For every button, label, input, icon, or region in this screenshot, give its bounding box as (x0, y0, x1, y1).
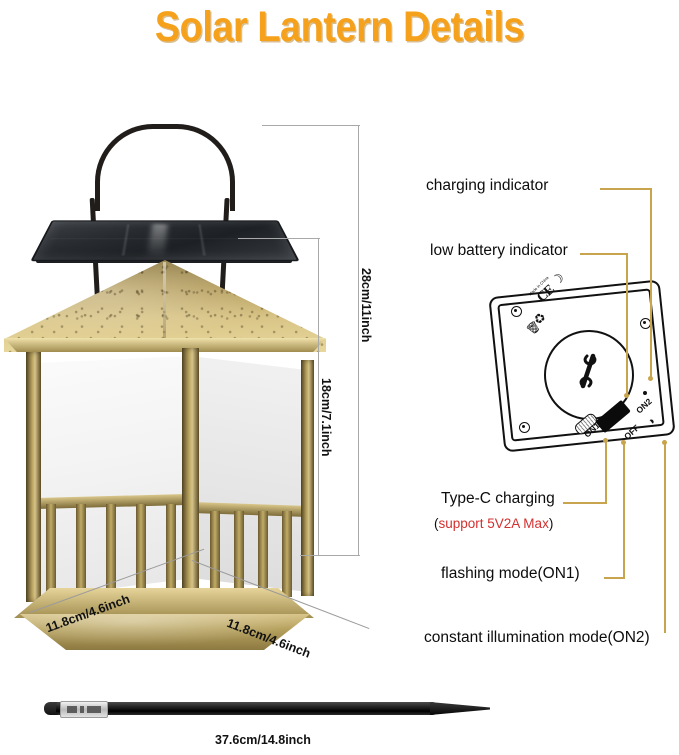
leader-typec-v (605, 441, 607, 504)
leader-charging-endpoint (648, 376, 653, 381)
dim-label-body-height: 18cm/7.1inch (319, 378, 333, 457)
callout-type-c-note: (support 5V2A Max) (434, 516, 553, 531)
dim-label-total-height: 28cm/11inch (359, 268, 373, 342)
callout-constant-mode: constant illumination mode(ON2) (424, 629, 650, 647)
stake-collar-marking (67, 706, 101, 713)
leader-lowbatt-endpoint (624, 393, 629, 398)
callout-charging-indicator: charging indicator (426, 177, 548, 195)
lantern-roof (4, 260, 326, 352)
slat (166, 504, 176, 596)
dim-label-stake-length: 37.6cm/14.8inch (215, 733, 311, 747)
callout-type-c-charging: Type-C charging (441, 490, 555, 508)
slat (258, 511, 268, 597)
leader-charging-h (600, 188, 652, 190)
screw-icon (519, 422, 530, 433)
slat (234, 511, 244, 597)
title-banner: Solar Lantern Details (0, 0, 679, 62)
leader-on2-v (664, 443, 666, 633)
lantern-handle-icon (95, 124, 235, 211)
dim-tick-top-18 (238, 238, 320, 239)
leader-on1-endpoint (621, 440, 626, 445)
bulb-icon (572, 352, 604, 392)
moon-icon: ☽ (549, 270, 568, 290)
stake-collar (60, 701, 108, 718)
stake-tip (430, 702, 490, 715)
leader-typec-h (563, 502, 607, 504)
leader-charging-v (650, 188, 652, 378)
dim-tick-top-28 (262, 125, 360, 126)
callout-low-battery-indicator: low battery indicator (430, 242, 568, 260)
lantern-body (22, 348, 310, 606)
leader-lowbatt-h (580, 253, 628, 255)
callout-type-c-note-red: support 5V2A Max (439, 516, 549, 531)
corner-post-right (301, 360, 314, 596)
leader-on2-endpoint (662, 440, 667, 445)
slat (210, 511, 220, 597)
corner-post-center (182, 348, 199, 606)
leader-lowbatt-v (626, 253, 628, 395)
page-title: Solar Lantern Details (41, 3, 639, 52)
lantern-product-image (0, 110, 330, 640)
leader-typec-endpoint (603, 438, 608, 443)
slat (282, 511, 292, 597)
slat (136, 504, 146, 596)
dim-tick-bottom-28 (300, 555, 360, 556)
slat (46, 504, 56, 596)
base-upper (14, 588, 314, 618)
ground-stake (30, 693, 490, 727)
callout-flashing-mode: flashing mode(ON1) (441, 565, 580, 583)
slat (76, 504, 86, 596)
low-battery-indicator-dot (643, 391, 647, 395)
corner-post-left (26, 352, 41, 602)
solar-panel-surface (30, 220, 299, 261)
leader-on1-v (623, 443, 625, 579)
control-panel-diagram: Made in China CE ☽ ♻ 🗑 ◑ ON1 OFF ON2 (488, 282, 674, 452)
roof-ridge (163, 262, 166, 350)
leader-on1-h (604, 577, 625, 579)
stake-shaft (56, 702, 436, 715)
